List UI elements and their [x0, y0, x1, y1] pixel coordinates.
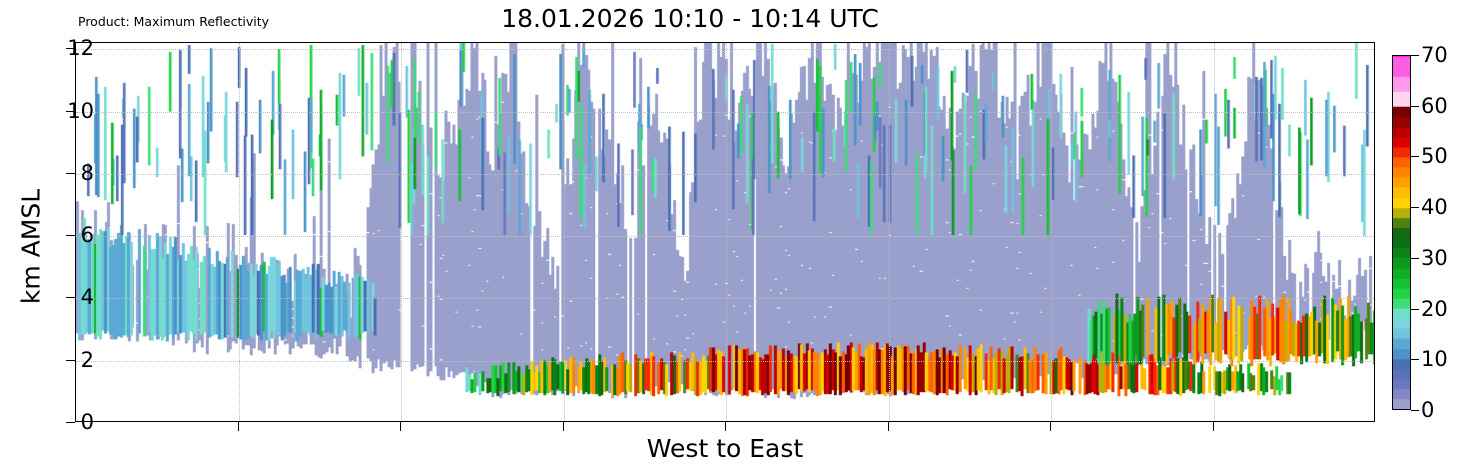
radar-cross-section-figure: Product: Maximum Reflectivity 18.01.2026…	[0, 0, 1482, 470]
colorbar-tick-mark	[1411, 359, 1419, 360]
colorbar-tick-label: 10	[1421, 347, 1448, 371]
colorbar-tick-mark	[1411, 106, 1419, 107]
y-axis-tick-label: 0	[54, 410, 94, 434]
plot-area	[75, 42, 1375, 422]
y-axis-tick-label: 2	[54, 348, 94, 372]
colorbar-tick-label: 30	[1421, 246, 1448, 270]
y-axis-tick-label: 4	[54, 285, 94, 309]
x-axis-tick-mark	[1050, 422, 1051, 431]
colorbar-tick-label: 40	[1421, 195, 1448, 219]
colorbar-tick-mark	[1411, 258, 1419, 259]
y-axis-tick-label: 12	[54, 36, 94, 60]
x-axis-tick-mark	[238, 422, 239, 431]
colorbar-tick-label: 0	[1421, 398, 1434, 422]
y-axis-tick-label: 10	[54, 99, 94, 123]
colorbar-tick-mark	[1411, 309, 1419, 310]
y-axis-tick-label: 6	[54, 223, 94, 247]
colorbar-tick-mark	[1411, 156, 1419, 157]
colorbar-tick-label: 70	[1421, 43, 1448, 67]
colorbar-tick-mark	[1411, 55, 1419, 56]
colorbar-tick-label: 20	[1421, 297, 1448, 321]
page-title: 18.01.2026 10:10 - 10:14 UTC	[0, 4, 1380, 33]
x-axis-title: West to East	[75, 434, 1375, 463]
colorbar-tick-mark	[1411, 410, 1419, 411]
y-axis-title: km AMSL	[17, 122, 46, 372]
colorbar-tick-label: 50	[1421, 144, 1448, 168]
colorbar-tick-label: 60	[1421, 94, 1448, 118]
y-axis-tick-label: 8	[54, 161, 94, 185]
x-axis-tick-mark	[1213, 422, 1214, 431]
x-axis-tick-mark	[563, 422, 564, 431]
x-axis-tick-mark	[725, 422, 726, 431]
x-axis-tick-mark	[888, 422, 889, 431]
colorbar-gradient	[1392, 55, 1411, 410]
colorbar-tick-mark	[1411, 207, 1419, 208]
x-axis-tick-mark	[400, 422, 401, 431]
colorbar	[1392, 55, 1411, 410]
reflectivity-heatmap-canvas	[76, 43, 1374, 421]
